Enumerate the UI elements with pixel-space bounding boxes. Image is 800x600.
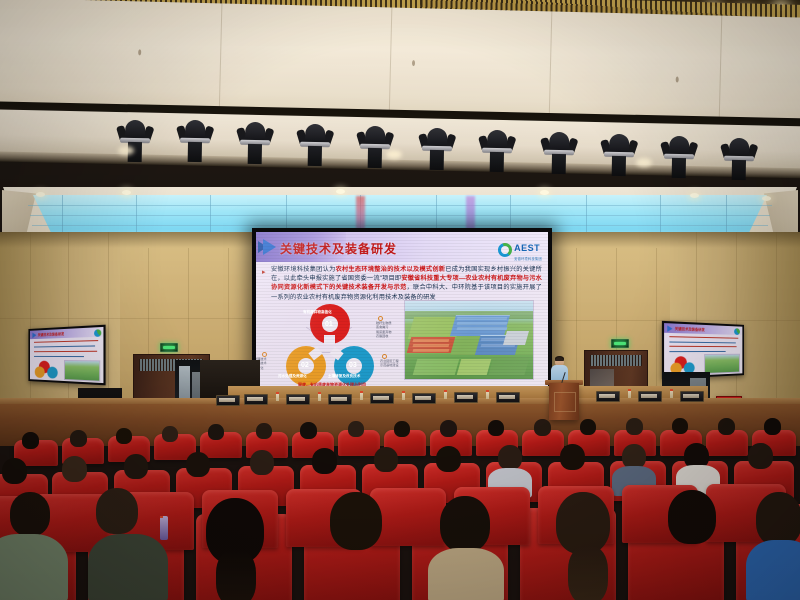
- nameplate: [244, 394, 268, 405]
- node-number: 03: [349, 362, 357, 369]
- audience-head: [70, 430, 87, 447]
- audience-head: [62, 456, 87, 482]
- side-monitor-left-title: 关键技术及装备研发: [38, 331, 64, 337]
- para-highlight-a: 农村生态环境整治的技术以及模式创新: [336, 266, 446, 273]
- node-number: 01: [325, 321, 333, 328]
- audience-head-foreground: [330, 492, 382, 550]
- stage-spotlight: [484, 130, 511, 174]
- audience-head: [498, 445, 522, 470]
- nameplate: [638, 391, 662, 402]
- infographic-side-note-right: 秸秆生物质 畜禽粪污 尾菜废弃物 农膜回收: [376, 321, 402, 339]
- audience-head: [312, 448, 337, 474]
- company-logo: AEST 安徽环境科技集团: [498, 238, 542, 261]
- audience-head: [672, 418, 688, 434]
- water-bottle-seat: [160, 516, 168, 540]
- exit-sign-right: [611, 339, 629, 348]
- audience-head: [748, 443, 773, 469]
- audience-head-foreground: [10, 492, 50, 536]
- stage-spotlight: [362, 126, 389, 170]
- water-bottle: [318, 392, 321, 401]
- slide-title: 关键技术及装备研发: [280, 240, 397, 257]
- logo-subtext: 安徽环境科技集团: [514, 256, 542, 261]
- audience-head: [116, 428, 132, 444]
- chevron-icon: [263, 239, 276, 255]
- audience-head-foreground: [756, 492, 800, 546]
- audience-head: [560, 444, 585, 470]
- exit-sign-left: [160, 343, 178, 352]
- audience-head-foreground: [556, 492, 610, 554]
- stage-spotlight: [424, 128, 451, 172]
- stage-spotlight: [666, 136, 693, 180]
- audience-head: [534, 419, 551, 436]
- stage-spotlight: [242, 122, 269, 166]
- nameplate: [370, 393, 394, 404]
- auditorium-photo: 关键技术及装备研发 AEST 安徽环境科技集团 ▸ 安徽环境科技集团认为农村生态…: [0, 0, 800, 600]
- audience-head: [2, 458, 27, 484]
- audience-head: [22, 432, 39, 449]
- audience-head: [440, 420, 457, 437]
- nameplate: [286, 394, 310, 405]
- water-bottle: [486, 390, 489, 399]
- audience-head: [626, 418, 643, 435]
- logo-text: AEST: [514, 243, 540, 253]
- slide-body: ▸ 安徽环境科技集团认为农村生态环境整治的技术以及模式创新已成为我国实现乡村振兴…: [262, 265, 542, 302]
- audience-head: [300, 422, 317, 439]
- podium-front-panel: [554, 392, 576, 412]
- node-number: 02: [301, 362, 309, 369]
- audience-shoulders-foreground: [88, 534, 168, 600]
- stage-spotlight: [302, 124, 329, 168]
- slide-paragraph-1: 安徽环境科技集团认为农村生态环境整治的技术以及模式创新已成为我国实现乡村振兴的关…: [262, 265, 542, 302]
- side-monitor-right-title: 关键技术及装备研发: [675, 325, 705, 331]
- audience-head: [394, 421, 410, 437]
- water-bottle: [276, 392, 279, 401]
- audience-head: [250, 450, 274, 475]
- para-plain-a: 安徽环境科技集团认为: [271, 266, 336, 273]
- slide-infographic: 01 有机废弃物高值化 02 污水处理及资源化 03 土壤修复及改良技术 秸秆生…: [270, 304, 390, 390]
- water-bottle: [670, 389, 673, 398]
- nameplate: [216, 395, 240, 406]
- aerial-render-image: [404, 300, 534, 380]
- node-label: 土壤修复及改良技术: [328, 374, 360, 379]
- audience-ponytail: [216, 550, 256, 600]
- stage-spotlight: [546, 132, 573, 176]
- nameplate: [680, 391, 704, 402]
- water-bottle: [402, 391, 405, 400]
- node-label: 污水处理及资源化: [278, 374, 307, 379]
- audience-head-foreground: [96, 488, 138, 534]
- node-label: 有机废弃物高值化: [303, 310, 332, 315]
- water-bottle: [444, 390, 447, 399]
- logo-mark-icon: [498, 243, 512, 257]
- water-bottle: [360, 391, 363, 400]
- stage-spotlight: [726, 138, 753, 182]
- stage-spotlight: [122, 120, 149, 164]
- audience-head: [488, 420, 504, 436]
- audience-head: [718, 418, 735, 435]
- audience-ponytail: [568, 546, 608, 600]
- side-monitor-left[interactable]: 关键技术及装备研发: [28, 325, 105, 386]
- side-monitor-right[interactable]: 关键技术及装备研发: [662, 321, 744, 379]
- nameplate: [328, 394, 352, 405]
- side-monitor-logo-icon: [94, 329, 101, 337]
- audience-head: [124, 454, 148, 479]
- infographic-side-note-right2: 农业园区工程 示范基地建设: [380, 359, 406, 368]
- audience-head: [436, 446, 461, 472]
- nameplate: [412, 393, 436, 404]
- audience-head: [162, 426, 178, 442]
- audience-shoulders-foreground: [746, 540, 800, 600]
- audience-head: [186, 452, 210, 477]
- main-led-screen[interactable]: 关键技术及装备研发 AEST 安徽环境科技集团 ▸ 安徽环境科技集团认为农村生态…: [256, 232, 548, 412]
- audience-head: [208, 424, 224, 440]
- nameplate: [496, 392, 520, 403]
- audience-head-foreground: [440, 496, 490, 552]
- audience-head: [348, 421, 364, 437]
- stage-spotlight: [182, 120, 209, 164]
- audience-head-foreground: [668, 490, 716, 544]
- nameplate: [596, 391, 620, 402]
- nameplate: [454, 392, 478, 403]
- audience-shoulders-foreground: [428, 548, 504, 600]
- water-bottle: [628, 389, 631, 398]
- audience-head: [374, 447, 398, 472]
- audience-head: [764, 418, 781, 435]
- stage-spotlight: [606, 134, 633, 178]
- audience-head: [580, 419, 596, 435]
- audience-shoulders-foreground: [0, 534, 68, 600]
- audience-head: [256, 423, 272, 439]
